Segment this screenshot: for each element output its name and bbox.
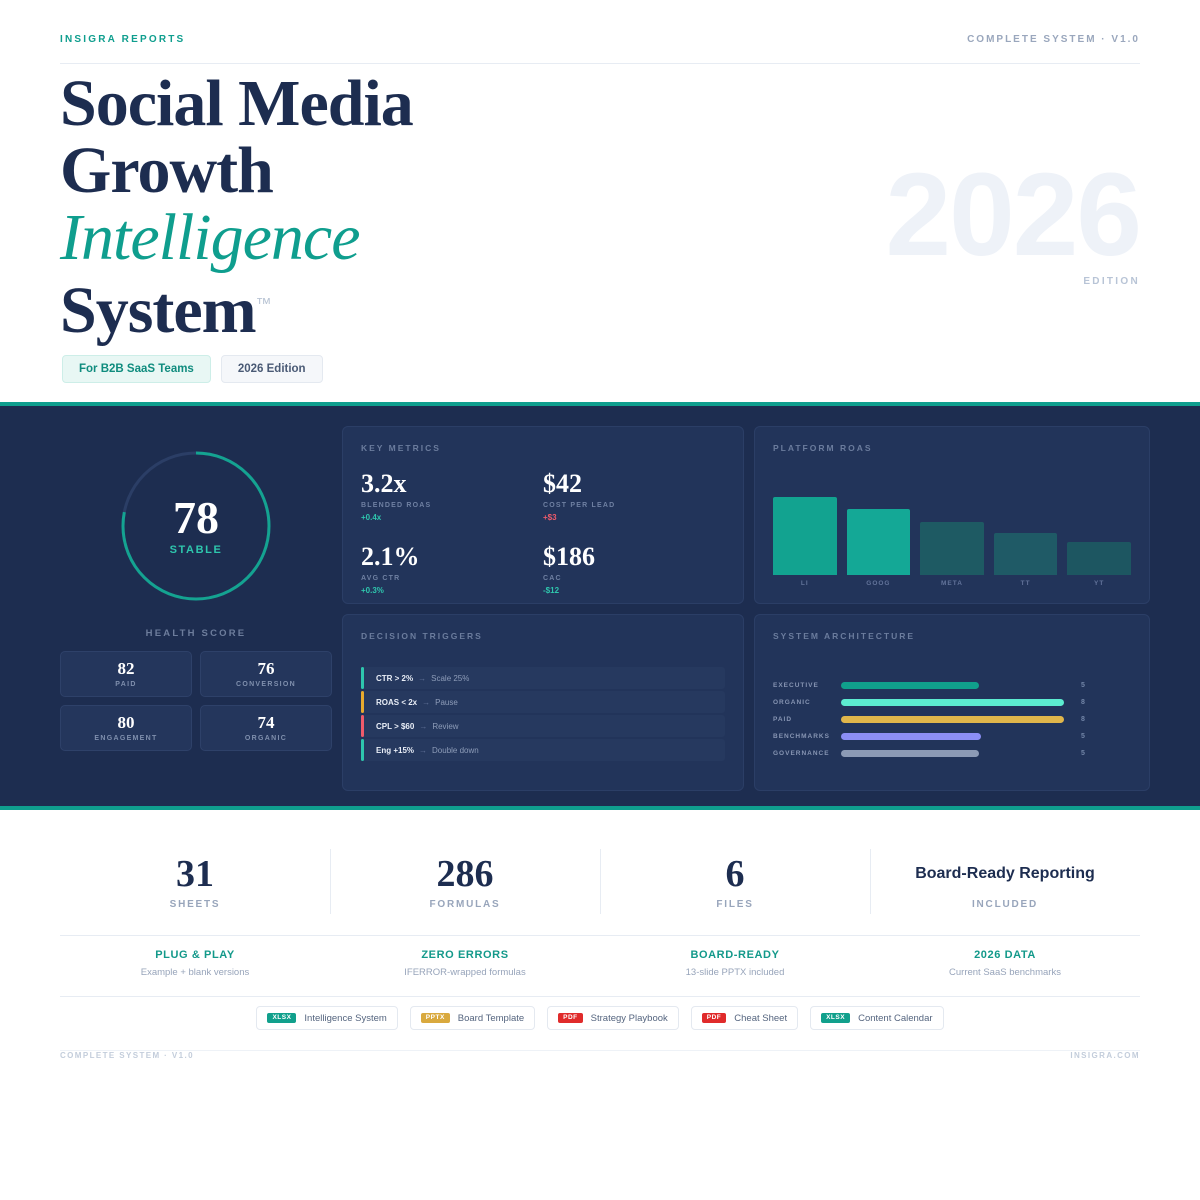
feature-plug-and-play: PLUG & PLAY Example + blank versions [60,943,330,984]
title-line-2: Growth [60,134,273,207]
trigger-color-strip [361,691,364,713]
architecture-bar [841,699,1064,706]
bar-label: YT [1067,580,1131,587]
metric-delta: -$12 [543,586,725,595]
file-chips-row: XLSX Intelligence System PPTX Board Temp… [0,1006,1200,1030]
pdf-icon: PDF [558,1013,583,1024]
trigger-condition: CTR > 2% [376,674,413,683]
file-chip-content-calendar[interactable]: XLSX Content Calendar [810,1006,943,1030]
file-chip-cheat-sheet[interactable]: PDF Cheat Sheet [691,1006,798,1030]
metric-delta: +0.4x [361,513,543,522]
trigger-color-strip [361,739,364,761]
architecture-track [841,750,1071,757]
stat-value: 6 [600,853,870,895]
key-metrics-grid: 3.2x BLENDED ROAS +0.4x $42 COST PER LEA… [361,469,725,595]
pptx-icon: PPTX [421,1013,450,1024]
architecture-count: 8 [1081,716,1085,723]
file-name: Intelligence System [304,1013,386,1024]
subscore-label: CONVERSION [236,681,296,688]
trigger-action: Pause [435,698,458,707]
architecture-track [841,716,1071,723]
badge-audience[interactable]: For B2B SaaS Teams [62,355,211,383]
platform-roas-title: PLATFORM ROAS [773,443,1131,453]
metric-label: COST PER LEAD [543,502,725,509]
stats-row: 31 SHEETS 286 FORMULAS 6 FILES Board-Rea… [60,845,1140,918]
stat-value: Board-Ready Reporting [870,853,1140,895]
stat-files: 6 FILES [600,845,870,918]
trigger-list: CTR > 2% → Scale 25% ROAS < 2x → Pause [361,667,725,763]
bar-label: TT [994,580,1058,587]
architecture-row: ORGANIC 8 [773,694,1131,710]
footer-right: INSIGRA.COM [1070,1051,1140,1060]
hero-badges: For B2B SaaS Teams 2026 Edition [62,355,323,383]
xlsx-icon: XLSX [821,1013,850,1024]
architecture-bar [841,682,979,689]
architecture-bar [841,716,1064,723]
metric-label: AVG CTR [361,575,543,582]
stat-formulas: 286 FORMULAS [330,845,600,918]
subscore-tile-conversion: 76 CONVERSION [200,651,332,697]
title-line-3-italic: Intelligence [60,204,820,271]
file-name: Board Template [458,1013,524,1024]
hero-title-block: Social Media Growth Intelligence System™ [60,70,820,344]
health-score-status: STABLE [170,544,223,556]
feature-board-ready: BOARD-READY 13-slide PPTX included [600,943,870,984]
stat-label: SHEETS [60,899,330,910]
architecture-row: GOVERNANCE 5 [773,745,1131,761]
trigger-color-strip [361,667,364,689]
health-score-caption: HEALTH SCORE [146,628,247,639]
feature-desc: 13-slide PPTX included [600,967,870,978]
right-panel-column: PLATFORM ROAS LI GOOG [754,426,1150,791]
feature-desc: Example + blank versions [60,967,330,978]
subscore-tile-engagement: 80 ENGAGEMENT [60,705,192,751]
decision-triggers-panel: DECISION TRIGGERS CTR > 2% → Scale 25% R… [342,614,744,791]
file-name: Strategy Playbook [591,1013,668,1024]
bar-label: LI [773,580,837,587]
header-divider [60,63,1140,64]
architecture-count: 5 [1081,733,1085,740]
architecture-row: BENCHMARKS 5 [773,728,1131,744]
trigger-row: CTR > 2% → Scale 25% [361,667,725,689]
trigger-action: Double down [432,746,479,755]
feature-desc: Current SaaS benchmarks [870,967,1140,978]
metric-value: 2.1% [361,542,543,572]
architecture-list: EXECUTIVE 5 ORGANIC 8 PAID [773,677,1131,762]
architecture-name: ORGANIC [773,699,841,706]
bar-label: GOOG [847,580,911,587]
trigger-row: CPL > $60 → Review [361,715,725,737]
architecture-count: 5 [1081,682,1085,689]
stat-sheets: 31 SHEETS [60,845,330,918]
architecture-name: PAID [773,716,841,723]
health-score-value: 78 [173,496,219,540]
metric-cac: $186 CAC -$12 [543,542,725,595]
arrow-icon: → [422,698,430,707]
trigger-condition: CPL > $60 [376,722,414,731]
metric-avg-ctr: 2.1% AVG CTR +0.3% [361,542,543,595]
subscore-tile-organic: 74 ORGANIC [200,705,332,751]
trademark-mark: ™ [256,296,271,313]
platform-roas-panel: PLATFORM ROAS LI GOOG [754,426,1150,604]
badge-edition[interactable]: 2026 Edition [221,355,323,383]
report-page: INSIGRA REPORTS COMPLETE SYSTEM · V1.0 S… [0,0,1200,1200]
architecture-track [841,699,1071,706]
health-score-column: 78 STABLE HEALTH SCORE 82 PAID 76 CONVER… [60,426,332,791]
trigger-row: ROAS < 2x → Pause [361,691,725,713]
architecture-row: PAID 8 [773,711,1131,727]
pdf-icon: PDF [702,1013,727,1024]
chart-bar-tt: TT [994,472,1058,587]
subscore-value: 80 [118,714,135,732]
file-name: Content Calendar [858,1013,932,1024]
arrow-icon: → [419,746,427,755]
arrow-icon: → [419,722,427,731]
feature-title: 2026 DATA [870,949,1140,961]
subscore-value: 76 [258,660,275,678]
trigger-row: Eng +15% → Double down [361,739,725,761]
feature-title: BOARD-READY [600,949,870,961]
metric-delta: +$3 [543,513,725,522]
top-bar: INSIGRA REPORTS COMPLETE SYSTEM · V1.0 [60,34,1140,45]
file-chip-board-template[interactable]: PPTX Board Template [410,1006,535,1030]
title-line-4: System [60,274,256,347]
xlsx-icon: XLSX [267,1013,296,1024]
bar [1067,542,1131,575]
year-number: 2026 [820,160,1140,270]
architecture-count: 8 [1081,699,1085,706]
arrow-icon: → [418,674,426,683]
bar-label: META [920,580,984,587]
architecture-bar [841,733,981,740]
metric-delta: +0.3% [361,586,543,595]
subscore-grid: 82 PAID 76 CONVERSION 80 ENGAGEMENT 74 [60,651,332,751]
feature-title: ZERO ERRORS [330,949,600,961]
brand-label: INSIGRA REPORTS [60,34,185,45]
architecture-track [841,682,1071,689]
architecture-row: EXECUTIVE 5 [773,677,1131,693]
features-row: PLUG & PLAY Example + blank versions ZER… [60,943,1140,984]
feature-zero-errors: ZERO ERRORS IFERROR-wrapped formulas [330,943,600,984]
features-divider [60,996,1140,997]
metric-label: BLENDED ROAS [361,502,543,509]
metric-cost-per-lead: $42 COST PER LEAD +$3 [543,469,725,522]
subscore-tile-paid: 82 PAID [60,651,192,697]
version-label: COMPLETE SYSTEM · V1.0 [967,34,1140,45]
chart-bar-yt: YT [1067,472,1131,587]
page-footer: COMPLETE SYSTEM · V1.0 INSIGRA.COM [60,1051,1140,1060]
decision-triggers-title: DECISION TRIGGERS [361,631,725,641]
key-metrics-title: KEY METRICS [361,443,725,453]
subscore-value: 82 [118,660,135,678]
metric-blended-roas: 3.2x BLENDED ROAS +0.4x [361,469,543,522]
key-metrics-panel: KEY METRICS 3.2x BLENDED ROAS +0.4x $42 … [342,426,744,604]
bar [773,497,837,575]
dashboard-band: 78 STABLE HEALTH SCORE 82 PAID 76 CONVER… [0,402,1200,810]
stat-label: INCLUDED [870,899,1140,910]
feature-title: PLUG & PLAY [60,949,330,961]
page-title: Social Media Growth Intelligence System™ [60,70,820,344]
subscore-label: PAID [115,681,136,688]
trigger-condition: Eng +15% [376,746,414,755]
middle-panel-column: KEY METRICS 3.2x BLENDED ROAS +0.4x $42 … [342,426,744,791]
trigger-action: Scale 25% [431,674,469,683]
architecture-name: BENCHMARKS [773,733,841,740]
system-architecture-panel: SYSTEM ARCHITECTURE EXECUTIVE 5 ORGANIC … [754,614,1150,791]
platform-roas-chart: LI GOOG META [773,472,1131,587]
stat-label: FILES [600,899,870,910]
chart-bar-meta: META [920,472,984,587]
stat-board-ready: Board-Ready Reporting INCLUDED [870,845,1140,918]
stat-label: FORMULAS [330,899,600,910]
subscore-value: 74 [258,714,275,732]
file-chip-intelligence-system[interactable]: XLSX Intelligence System [256,1006,397,1030]
metric-value: 3.2x [361,469,543,499]
system-architecture-title: SYSTEM ARCHITECTURE [773,631,1131,641]
file-name: Cheat Sheet [734,1013,787,1024]
feature-desc: IFERROR-wrapped formulas [330,967,600,978]
chart-bar-goog: GOOG [847,472,911,587]
bar [994,533,1058,575]
trigger-condition: ROAS < 2x [376,698,417,707]
subscore-label: ENGAGEMENT [94,735,157,742]
title-line-1: Social Media [60,67,413,140]
architecture-name: GOVERNANCE [773,750,841,757]
stat-value: 286 [330,853,600,895]
bar [920,522,984,575]
metric-value: $42 [543,469,725,499]
trigger-action: Review [432,722,458,731]
architecture-bar [841,750,979,757]
metric-label: CAC [543,575,725,582]
stats-divider [60,935,1140,936]
footer-left: COMPLETE SYSTEM · V1.0 [60,1051,194,1060]
subscore-label: ORGANIC [245,735,287,742]
file-chip-strategy-playbook[interactable]: PDF Strategy Playbook [547,1006,679,1030]
architecture-count: 5 [1081,750,1085,757]
chart-bar-li: LI [773,472,837,587]
architecture-track [841,733,1071,740]
health-score-ring: 78 STABLE [116,446,276,606]
trigger-color-strip [361,715,364,737]
architecture-name: EXECUTIVE [773,682,841,689]
metric-value: $186 [543,542,725,572]
stat-value: 31 [60,853,330,895]
feature-2026-data: 2026 DATA Current SaaS benchmarks [870,943,1140,984]
bar [847,509,911,575]
year-block: 2026 EDITION [820,160,1140,287]
